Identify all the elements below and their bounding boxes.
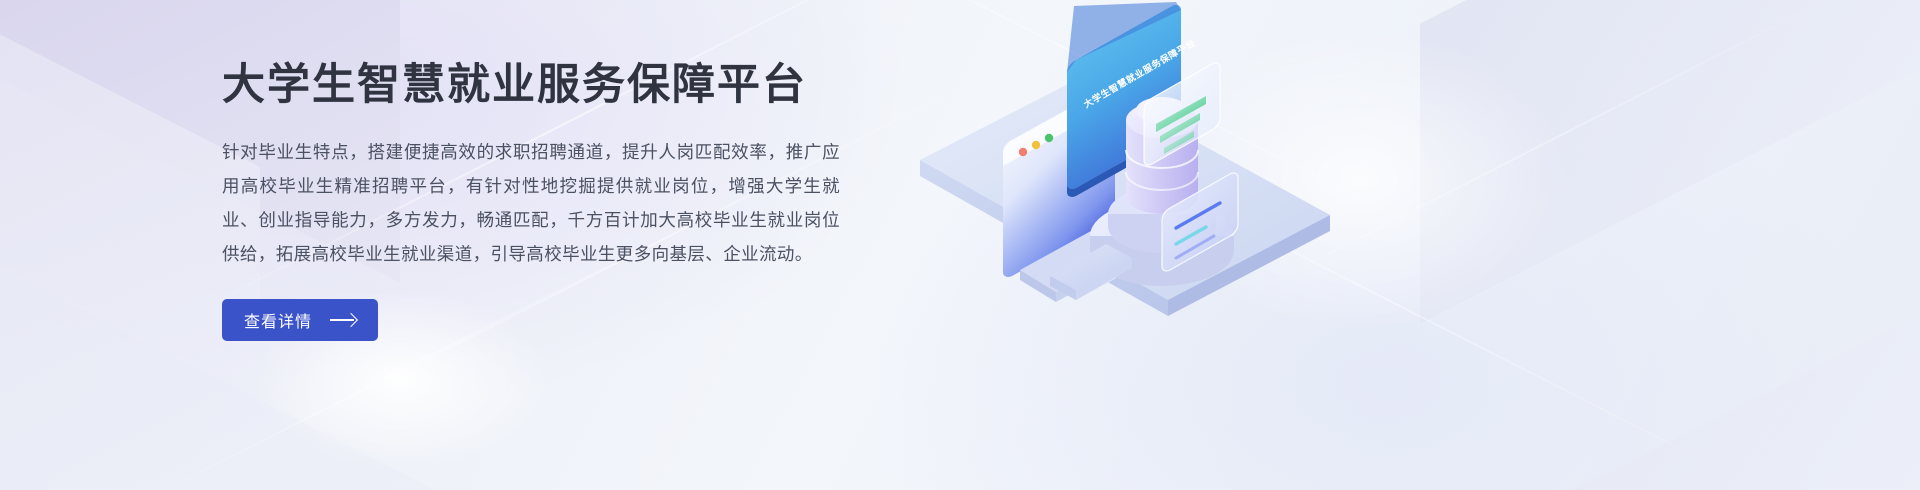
page-title: 大学生智慧就业服务保障平台 xyxy=(222,62,862,109)
arrow-right-icon xyxy=(330,314,356,326)
window-dot-red xyxy=(1019,148,1027,156)
decor-plate-bottom-right xyxy=(1400,161,1920,490)
decor-plate-left xyxy=(0,0,260,397)
hero-banner: 大学生智慧就业服务保障平台 针对毕业生特点，搭建便捷高效的求职招聘通道，提升人岗… xyxy=(0,0,1920,490)
hero-illustration: 大学生智慧就业服务保障平台 xyxy=(900,0,1420,330)
hero-copy: 大学生智慧就业服务保障平台 针对毕业生特点，搭建便捷高效的求职招聘通道，提升人岗… xyxy=(222,62,862,341)
view-details-label: 查看详情 xyxy=(244,308,312,332)
decor-plate-top-right xyxy=(1420,0,1920,324)
view-details-button[interactable]: 查看详情 xyxy=(222,299,378,341)
window-dot-yellow xyxy=(1032,141,1040,149)
hero-description: 针对毕业生特点，搭建便捷高效的求职招聘通道，提升人岗匹配效率，推广应用高校毕业生… xyxy=(222,135,840,271)
window-dot-green xyxy=(1045,134,1053,142)
